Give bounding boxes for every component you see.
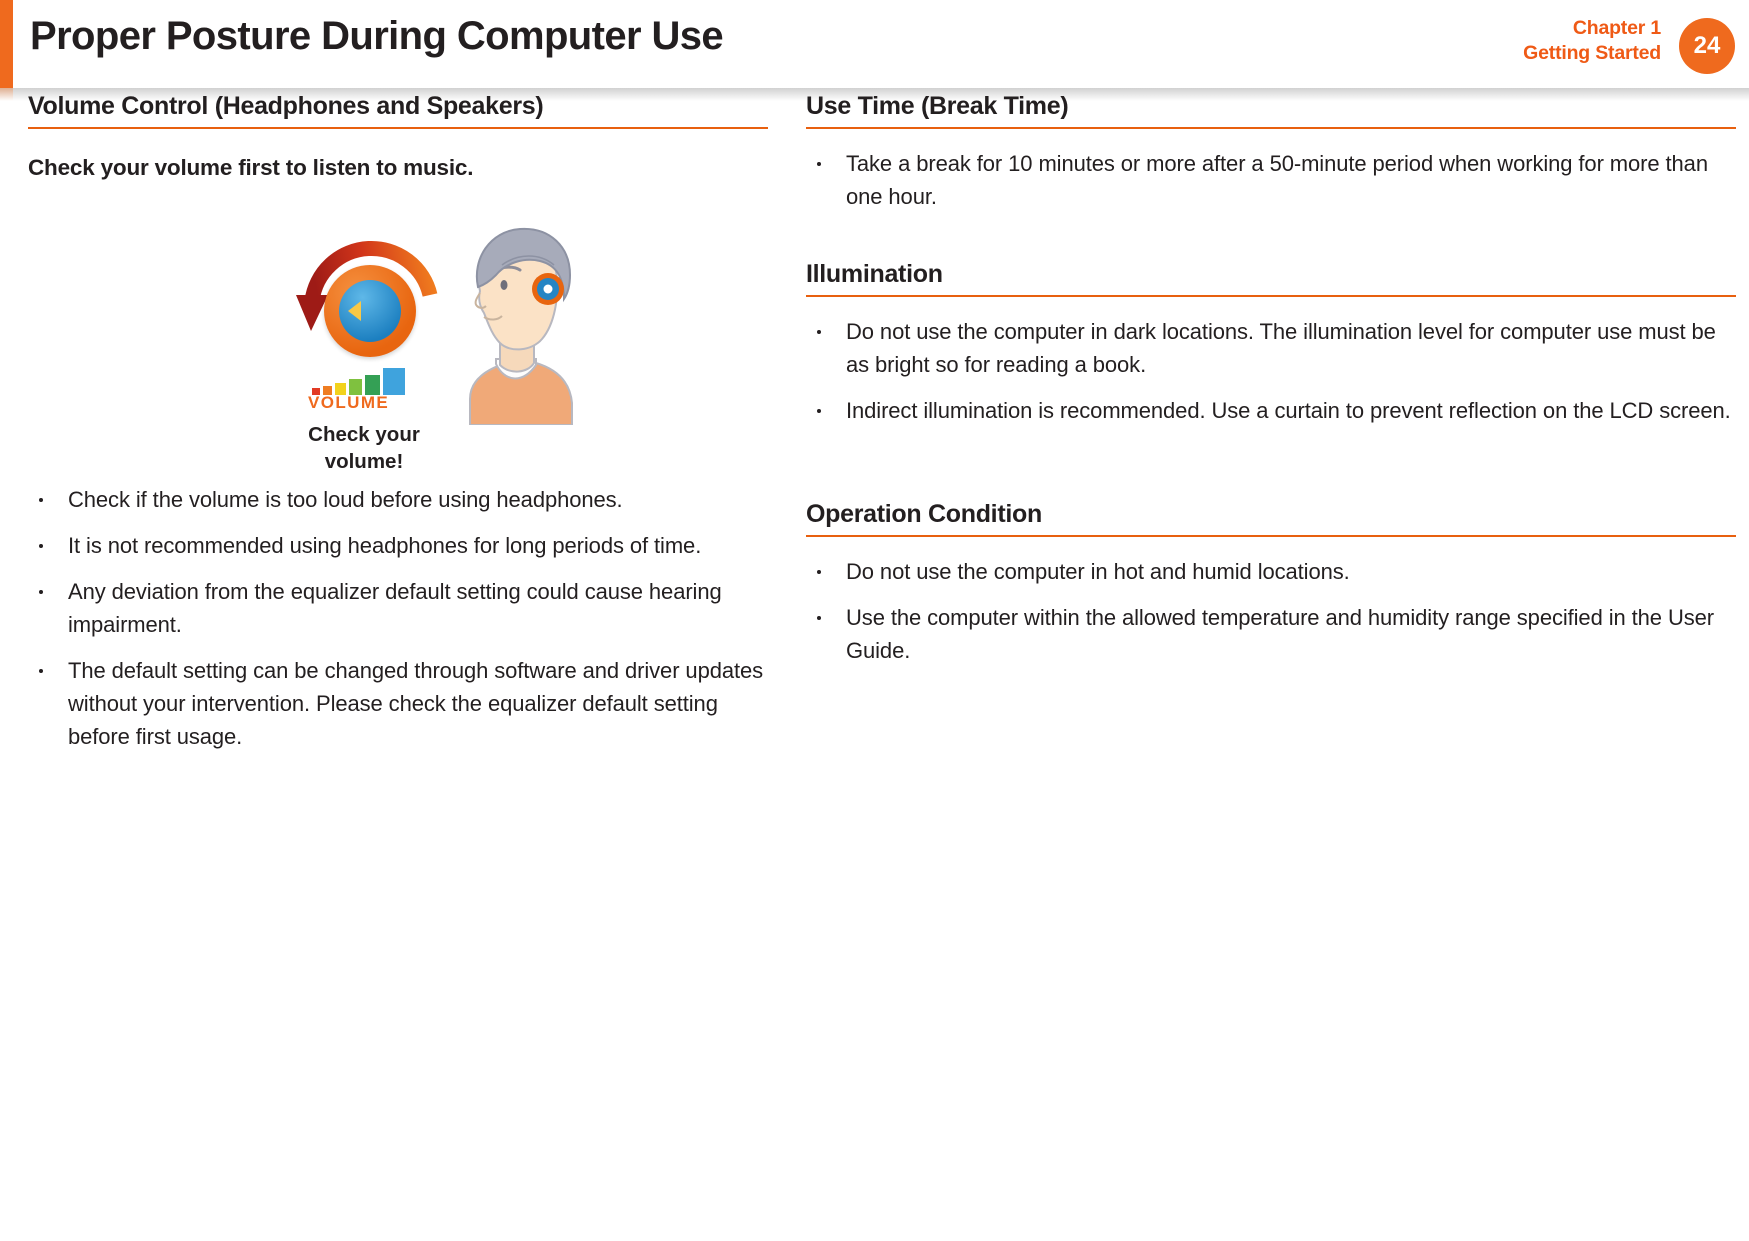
- section-heading-use-time: Use Time (Break Time): [806, 92, 1736, 129]
- page-number-badge: 24: [1679, 18, 1735, 74]
- left-column: Volume Control (Headphones and Speakers)…: [28, 92, 768, 766]
- header-shadow-left: [0, 88, 13, 101]
- list-item: Use the computer within the allowed temp…: [806, 601, 1736, 667]
- operation-bullet-list: Do not use the computer in hot and humid…: [806, 555, 1736, 667]
- section-heading-operation-condition: Operation Condition: [806, 500, 1736, 537]
- list-item: Check if the volume is too loud before u…: [28, 483, 768, 516]
- list-item: Do not use the computer in dark location…: [806, 315, 1736, 381]
- list-item: It is not recommended using headphones f…: [28, 529, 768, 562]
- page-title: Proper Posture During Computer Use: [30, 14, 723, 59]
- list-item: Indirect illumination is recommended. Us…: [806, 394, 1736, 427]
- use-time-bullet-list: Take a break for 10 minutes or more afte…: [806, 147, 1736, 213]
- header-accent-bar: [0, 0, 13, 88]
- volume-knob-group: [290, 233, 450, 383]
- left-bullet-list: Check if the volume is too loud before u…: [28, 483, 768, 753]
- list-item: Take a break for 10 minutes or more afte…: [806, 147, 1736, 213]
- chapter-number: Chapter 1: [1523, 16, 1661, 41]
- list-item: Any deviation from the equalizer default…: [28, 575, 768, 641]
- section-operation-condition: Operation Condition Do not use the compu…: [806, 500, 1736, 680]
- list-item: The default setting can be changed throu…: [28, 654, 768, 753]
- section-heading-volume-control: Volume Control (Headphones and Speakers): [28, 92, 768, 129]
- section-illumination: Illumination Do not use the computer in …: [806, 260, 1736, 440]
- caption-line-1: Check your: [276, 421, 452, 448]
- volume-meter-label: VOLUME: [308, 393, 389, 413]
- illustration-caption: Check your volume!: [276, 421, 452, 475]
- volume-level-meter-icon: [312, 367, 408, 395]
- list-item: Do not use the computer in hot and humid…: [806, 555, 1736, 588]
- volume-knob-pointer-icon: [348, 301, 361, 321]
- lead-text-check-volume: Check your volume first to listen to mus…: [28, 155, 768, 181]
- illumination-bullet-list: Do not use the computer in dark location…: [806, 315, 1736, 427]
- volume-illustration: VOLUME Check your volume!: [28, 207, 768, 465]
- chapter-label: Chapter 1 Getting Started: [1523, 16, 1661, 66]
- caption-line-2: volume!: [276, 448, 452, 475]
- chapter-name: Getting Started: [1523, 41, 1661, 66]
- page-header: Proper Posture During Computer Use Chapt…: [0, 0, 1749, 92]
- person-with-earphone-icon: [444, 213, 576, 425]
- section-use-time: Use Time (Break Time) Take a break for 1…: [806, 92, 1736, 226]
- section-heading-illumination: Illumination: [806, 260, 1736, 297]
